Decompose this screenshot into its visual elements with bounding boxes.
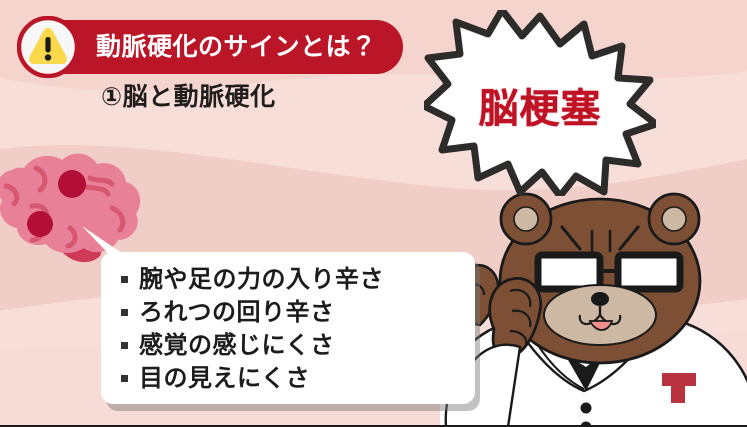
bear-nose [591, 292, 609, 306]
warning-triangle-icon [17, 16, 79, 78]
title-banner: 動脈硬化のサインとは？ [22, 20, 403, 74]
list-item: 目の見えにくさ [119, 362, 475, 395]
callout-text: 脳梗塞 [424, 10, 656, 196]
brain-lesion [58, 170, 86, 198]
infographic-slide: 脳梗塞 [0, 0, 747, 427]
coat-button [581, 403, 592, 414]
starburst-callout: 脳梗塞 [424, 10, 656, 196]
symptom-label: 感覚の感じにくさ [139, 334, 335, 358]
bullet-icon [121, 276, 128, 283]
bullet-icon [121, 342, 128, 349]
symptom-label: ろれつの回り辛さ [139, 301, 335, 325]
symptom-panel: 腕や足の力の入り辛さ ろれつの回り辛さ 感覚の感じにくさ 目の見えにくさ [101, 252, 475, 404]
bullet-icon [121, 375, 128, 382]
list-item: 腕や足の力の入り辛さ [119, 263, 475, 296]
symptom-list: 腕や足の力の入り辛さ ろれつの回り辛さ 感覚の感じにくさ 目の見えにくさ [119, 263, 475, 395]
brain-lesion [27, 211, 53, 237]
page-title: 動脈硬化のサインとは？ [96, 35, 377, 60]
section-subtitle: ①脳と動脈硬化 [101, 84, 276, 112]
bullet-icon [121, 309, 128, 316]
list-item: 感覚の感じにくさ [119, 329, 475, 362]
bear-doctor-illustration [440, 175, 747, 427]
symptom-label: 目の見えにくさ [139, 367, 310, 391]
list-item: ろれつの回り辛さ [119, 296, 475, 329]
symptom-label: 腕や足の力の入り辛さ [139, 268, 384, 292]
